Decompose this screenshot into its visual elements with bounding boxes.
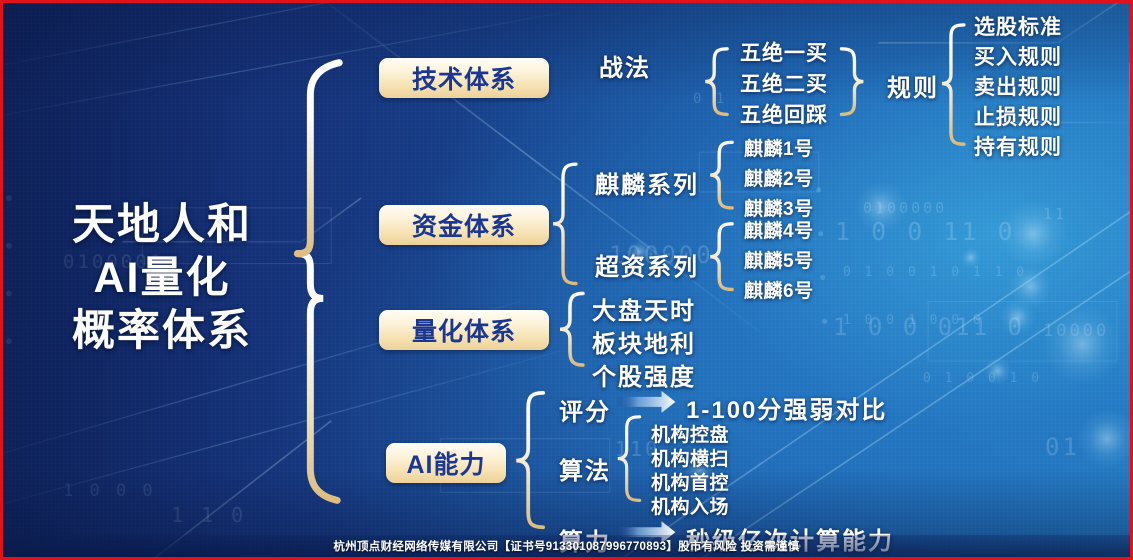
node-buy-rule[interactable]: 买入规则 xyxy=(974,41,1062,71)
node-wujue-yimai[interactable]: 五绝一买 xyxy=(740,37,828,67)
node-qilin-6[interactable]: 麒麟6号 xyxy=(744,276,814,303)
node-stoploss-rule[interactable]: 止损规则 xyxy=(974,101,1062,131)
node-qilin-1[interactable]: 麒麟1号 xyxy=(744,134,814,161)
root-title-line-2: AI量化 xyxy=(31,252,293,305)
node-hold-rule[interactable]: 持有规则 xyxy=(974,131,1062,161)
node-wujue-huicai[interactable]: 五绝回踩 xyxy=(740,99,828,129)
branch-node-technical-system[interactable]: 技术体系 xyxy=(379,58,549,98)
branch-node-ai-capability[interactable]: AI能力 xyxy=(386,443,506,483)
node-institution-entry[interactable]: 机构入场 xyxy=(651,492,729,519)
node-qilin-series[interactable]: 麒麟系列 xyxy=(595,165,699,200)
branch-node-fund-system[interactable]: 资金体系 xyxy=(379,205,549,245)
node-stock-strength[interactable]: 个股强度 xyxy=(592,357,696,392)
node-institution-control[interactable]: 机构控盘 xyxy=(651,420,729,447)
branch-node-quant-system[interactable]: 量化体系 xyxy=(379,310,549,350)
node-scoring[interactable]: 评分 xyxy=(559,392,611,427)
root-title: 天地人和 AI量化 概率体系 xyxy=(31,199,293,358)
node-sell-rule[interactable]: 卖出规则 xyxy=(974,71,1062,101)
node-institution-sweep[interactable]: 机构横扫 xyxy=(651,444,729,471)
node-algorithm[interactable]: 算法 xyxy=(559,451,611,486)
node-chaozi-series[interactable]: 超资系列 xyxy=(595,247,699,282)
mindmap-canvas: 0100000 1 0 0100000 1 0 0 11 0 11 0 1 0 … xyxy=(0,0,1133,560)
node-wujue-ermai[interactable]: 五绝二买 xyxy=(740,68,828,98)
node-qilin-5[interactable]: 麒麟5号 xyxy=(744,246,814,273)
node-market-timing[interactable]: 大盘天时 xyxy=(592,291,696,326)
root-title-line-3: 概率体系 xyxy=(31,305,293,358)
node-sector-advantage[interactable]: 板块地利 xyxy=(592,324,696,359)
node-institution-first-control[interactable]: 机构首控 xyxy=(651,468,729,495)
node-guize[interactable]: 规则 xyxy=(887,68,939,103)
footer-disclaimer: 杭州顶点财经网络传媒有限公司【证书号913301087996770893】股市有… xyxy=(3,535,1130,557)
node-stock-selection-standard[interactable]: 选股标准 xyxy=(974,11,1062,41)
root-title-line-1: 天地人和 xyxy=(31,199,293,252)
node-zhanfa[interactable]: 战法 xyxy=(599,48,651,83)
node-qilin-2[interactable]: 麒麟2号 xyxy=(744,164,814,191)
node-qilin-4[interactable]: 麒麟4号 xyxy=(744,216,814,243)
